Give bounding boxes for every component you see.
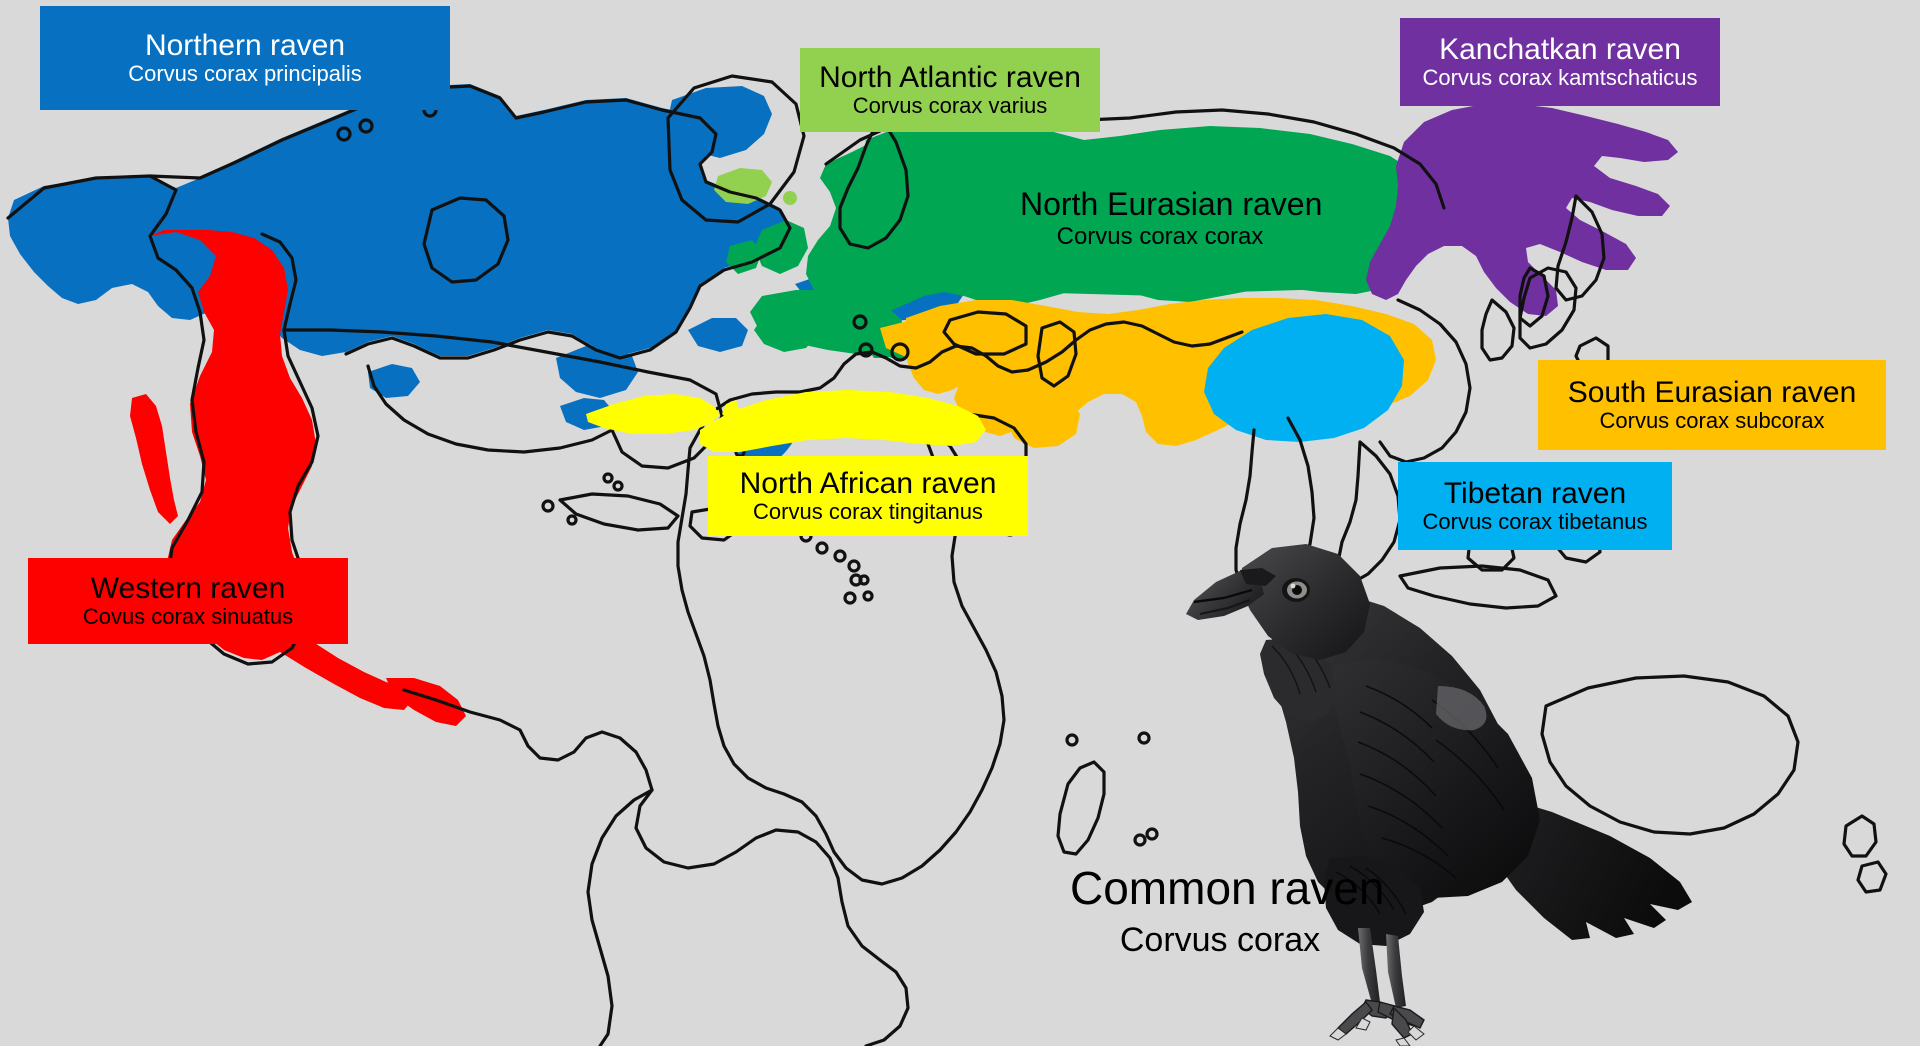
- legend-label-north-african-raven[interactable]: North African raven Corvus corax tingita…: [708, 456, 1028, 536]
- raven-eye-highlight: [1291, 584, 1296, 589]
- legend-label-western-raven[interactable]: Western raven Covus corax sinuatus: [28, 558, 348, 644]
- range-north-african: [586, 390, 986, 452]
- figure-title: Common raven Corvus corax: [1070, 862, 1370, 960]
- legend-scientific-name: Corvus corax tibetanus: [1423, 510, 1648, 535]
- legend-label-tibetan-raven[interactable]: Tibetan raven Corvus corax tibetanus: [1398, 462, 1672, 550]
- raven-distribution-map: Northern raven Corvus corax principalis …: [0, 0, 1920, 1046]
- legend-common-name: South Eurasian raven: [1568, 376, 1857, 410]
- legend-common-name: Western raven: [91, 572, 286, 606]
- legend-scientific-name: Corvus corax tingitanus: [753, 500, 983, 525]
- legend-scientific-name: Covus corax sinuatus: [83, 605, 293, 630]
- legend-scientific-name: Corvus corax kamtschaticus: [1422, 66, 1697, 91]
- legend-label-north-atlantic-raven[interactable]: North Atlantic raven Corvus corax varius: [800, 48, 1100, 132]
- legend-scientific-name: Corvus corax corax: [1020, 223, 1300, 251]
- figure-common-name: Common raven: [1070, 862, 1370, 915]
- legend-common-name: North African raven: [740, 467, 997, 501]
- legend-common-name: Tibetan raven: [1444, 477, 1626, 511]
- legend-scientific-name: Corvus corax subcorax: [1600, 409, 1825, 434]
- legend-scientific-name: Corvus corax principalis: [128, 62, 362, 87]
- legend-label-south-eurasian-raven[interactable]: South Eurasian raven Corvus corax subcor…: [1538, 360, 1886, 450]
- legend-common-name: North Atlantic raven: [819, 61, 1081, 95]
- legend-label-northern-raven[interactable]: Northern raven Corvus corax principalis: [40, 6, 450, 110]
- figure-scientific-name: Corvus corax: [1070, 921, 1370, 960]
- legend-common-name: Northern raven: [145, 29, 345, 63]
- legend-common-name: Kanchatkan raven: [1439, 33, 1681, 67]
- legend-common-name: North Eurasian raven: [1020, 186, 1300, 223]
- legend-label-kanchatkan-raven[interactable]: Kanchatkan raven Corvus corax kamtschati…: [1400, 18, 1720, 106]
- legend-scientific-name: Corvus corax varius: [853, 94, 1047, 119]
- raven-head: [1240, 544, 1370, 660]
- raven-photograph: [1180, 490, 1740, 1046]
- legend-label-north-eurasian-raven: North Eurasian raven Corvus corax corax: [1020, 186, 1300, 250]
